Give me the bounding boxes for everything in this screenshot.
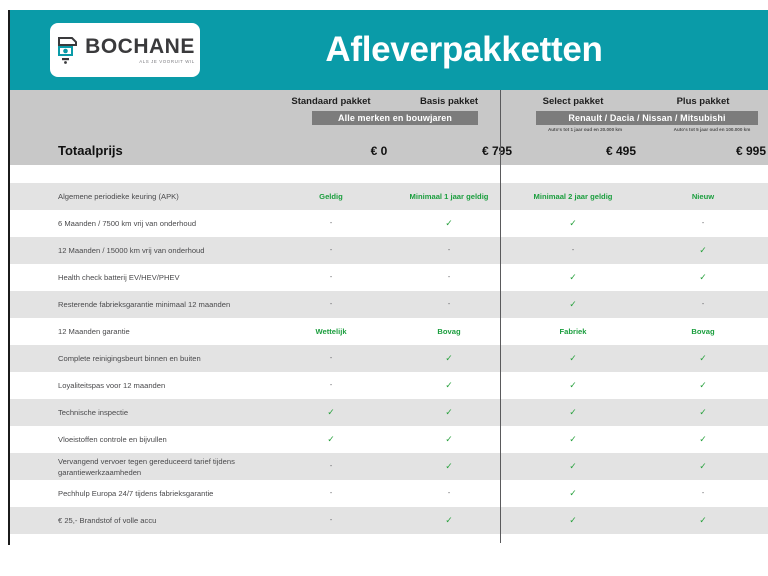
feature-label: Vloeistoffen controle en bijvullen — [10, 434, 272, 445]
check-icon: ✓ — [508, 434, 638, 445]
not-included-dash: - — [272, 301, 390, 308]
price-basis: € 795 — [438, 144, 556, 158]
table-row: € 25,- Brandstof of volle accu-✓✓✓ — [10, 507, 768, 534]
not-included-dash: - — [508, 247, 638, 254]
table-row: 12 Maanden garantieWettelijkBovagFabriek… — [10, 318, 768, 345]
table-row: Vloeistoffen controle en bijvullen✓✓✓✓ — [10, 426, 768, 453]
package-group-divider — [500, 90, 501, 543]
price-select: € 495 — [556, 144, 686, 158]
check-icon: ✓ — [508, 353, 638, 364]
check-icon: ✓ — [508, 515, 638, 526]
page-title: Afleverpakketten — [200, 30, 728, 70]
header-body-gap — [10, 165, 768, 183]
feature-value: Nieuw — [638, 192, 768, 201]
feature-value: Bovag — [390, 327, 508, 336]
feature-value: Minimaal 1 jaar geldig — [390, 192, 508, 201]
check-icon: ✓ — [638, 407, 768, 418]
total-price-row: Totaalprijs € 0 € 795 € 495 € 995 — [10, 143, 768, 158]
check-icon: ✓ — [272, 434, 390, 445]
table-row: 6 Maanden / 7500 km vrij van onderhoud-✓… — [10, 210, 768, 237]
not-included-dash: - — [390, 274, 508, 281]
package-name-basis: Basis pakket — [390, 96, 508, 107]
brand-logo: BOCHANE ALS JE VOORUIT WIL — [50, 23, 200, 77]
afleverpakketten-sheet: BOCHANE ALS JE VOORUIT WIL Afleverpakket… — [8, 10, 768, 545]
package-name-plus: Plus pakket — [638, 96, 768, 107]
feature-label: Resterende fabrieksgarantie minimaal 12 … — [10, 299, 272, 310]
brand-tagline: ALS JE VOORUIT WIL — [139, 60, 195, 64]
check-icon: ✓ — [390, 407, 508, 418]
table-row: Complete reinigingsbeurt binnen en buite… — [10, 345, 768, 372]
brand-wordmark: BOCHANE ALS JE VOORUIT WIL — [85, 36, 195, 64]
feature-label: 6 Maanden / 7500 km vrij van onderhoud — [10, 218, 272, 229]
not-included-dash: - — [638, 220, 768, 227]
check-icon: ✓ — [508, 272, 638, 283]
package-name-standaard: Standaard pakket — [272, 96, 390, 107]
feature-label: Complete reinigingsbeurt binnen en buite… — [10, 353, 272, 364]
table-row: Health check batterij EV/HEV/PHEV--✓✓ — [10, 264, 768, 291]
check-icon: ✓ — [638, 434, 768, 445]
table-row: Resterende fabrieksgarantie minimaal 12 … — [10, 291, 768, 318]
feature-value: Wettelijk — [272, 327, 390, 336]
check-icon: ✓ — [390, 380, 508, 391]
not-included-dash: - — [272, 220, 390, 227]
check-icon: ✓ — [508, 488, 638, 499]
not-included-dash: - — [272, 463, 390, 470]
not-included-dash: - — [272, 382, 390, 389]
feature-label: 12 Maanden garantie — [10, 326, 272, 337]
check-icon: ✓ — [508, 218, 638, 229]
check-icon: ✓ — [390, 461, 508, 472]
feature-label: 12 Maanden / 15000 km vrij van onderhoud — [10, 245, 272, 256]
table-bottom-gap — [10, 534, 768, 564]
page-header: BOCHANE ALS JE VOORUIT WIL Afleverpakket… — [10, 10, 768, 90]
not-included-dash: - — [272, 355, 390, 362]
check-icon: ✓ — [638, 245, 768, 256]
feature-label: Algemene periodieke keuring (APK) — [10, 191, 272, 202]
check-icon: ✓ — [390, 434, 508, 445]
feature-value: Geldig — [272, 192, 390, 201]
feature-label: Vervangend vervoer tegen gereduceerd tar… — [10, 456, 272, 478]
not-included-dash: - — [272, 274, 390, 281]
check-icon: ✓ — [638, 461, 768, 472]
table-row: Technische inspectie✓✓✓✓ — [10, 399, 768, 426]
package-header: Standaard pakket Basis pakket Select pak… — [10, 90, 768, 165]
check-icon: ✓ — [638, 272, 768, 283]
check-icon: ✓ — [508, 299, 638, 310]
package-name-select: Select pakket — [508, 96, 638, 107]
package-subtitle-plus: Auto's tot 5 jaar oud en 100.000 km — [652, 127, 768, 132]
total-price-label: Totaalprijs — [10, 143, 320, 158]
not-included-dash: - — [638, 301, 768, 308]
package-subtitle-select: Auto's tot 1 jaar oud en 20.000 km — [518, 127, 652, 132]
feature-label: Pechhulp Europa 24/7 tijdens fabrieksgar… — [10, 488, 272, 499]
bochane-mark-icon — [55, 35, 79, 65]
check-icon: ✓ — [638, 380, 768, 391]
feature-label: Technische inspectie — [10, 407, 272, 418]
brand-name: BOCHANE — [85, 36, 195, 57]
check-icon: ✓ — [508, 380, 638, 391]
not-included-dash: - — [272, 517, 390, 524]
feature-label: Health check batterij EV/HEV/PHEV — [10, 272, 272, 283]
feature-label: Loyaliteitspas voor 12 maanden — [10, 380, 272, 391]
feature-value: Fabriek — [508, 327, 638, 336]
feature-value: Minimaal 2 jaar geldig — [508, 192, 638, 201]
table-row: Pechhulp Europa 24/7 tijdens fabrieksgar… — [10, 480, 768, 507]
table-row: Loyaliteitspas voor 12 maanden-✓✓✓ — [10, 372, 768, 399]
check-icon: ✓ — [508, 461, 638, 472]
not-included-dash: - — [272, 490, 390, 497]
table-row: Algemene periodieke keuring (APK)GeldigM… — [10, 183, 768, 210]
check-icon: ✓ — [390, 353, 508, 364]
not-included-dash: - — [272, 247, 390, 254]
feature-label: € 25,- Brandstof of volle accu — [10, 515, 272, 526]
feature-table: Algemene periodieke keuring (APK)GeldigM… — [10, 183, 768, 534]
table-row: Vervangend vervoer tegen gereduceerd tar… — [10, 453, 768, 480]
group-label-renault-dacia-nissan-mitsubishi: Renault / Dacia / Nissan / Mitsubishi — [536, 111, 758, 125]
not-included-dash: - — [638, 490, 768, 497]
not-included-dash: - — [390, 247, 508, 254]
price-standaard: € 0 — [320, 144, 438, 158]
feature-value: Bovag — [638, 327, 768, 336]
check-icon: ✓ — [390, 218, 508, 229]
check-icon: ✓ — [272, 407, 390, 418]
check-icon: ✓ — [638, 353, 768, 364]
not-included-dash: - — [390, 490, 508, 497]
not-included-dash: - — [390, 301, 508, 308]
price-plus: € 995 — [686, 144, 768, 158]
table-row: 12 Maanden / 15000 km vrij van onderhoud… — [10, 237, 768, 264]
group-label-all-brands: Alle merken en bouwjaren — [312, 111, 478, 125]
check-icon: ✓ — [508, 407, 638, 418]
package-name-row: Standaard pakket Basis pakket Select pak… — [10, 96, 768, 107]
check-icon: ✓ — [638, 515, 768, 526]
check-icon: ✓ — [390, 515, 508, 526]
